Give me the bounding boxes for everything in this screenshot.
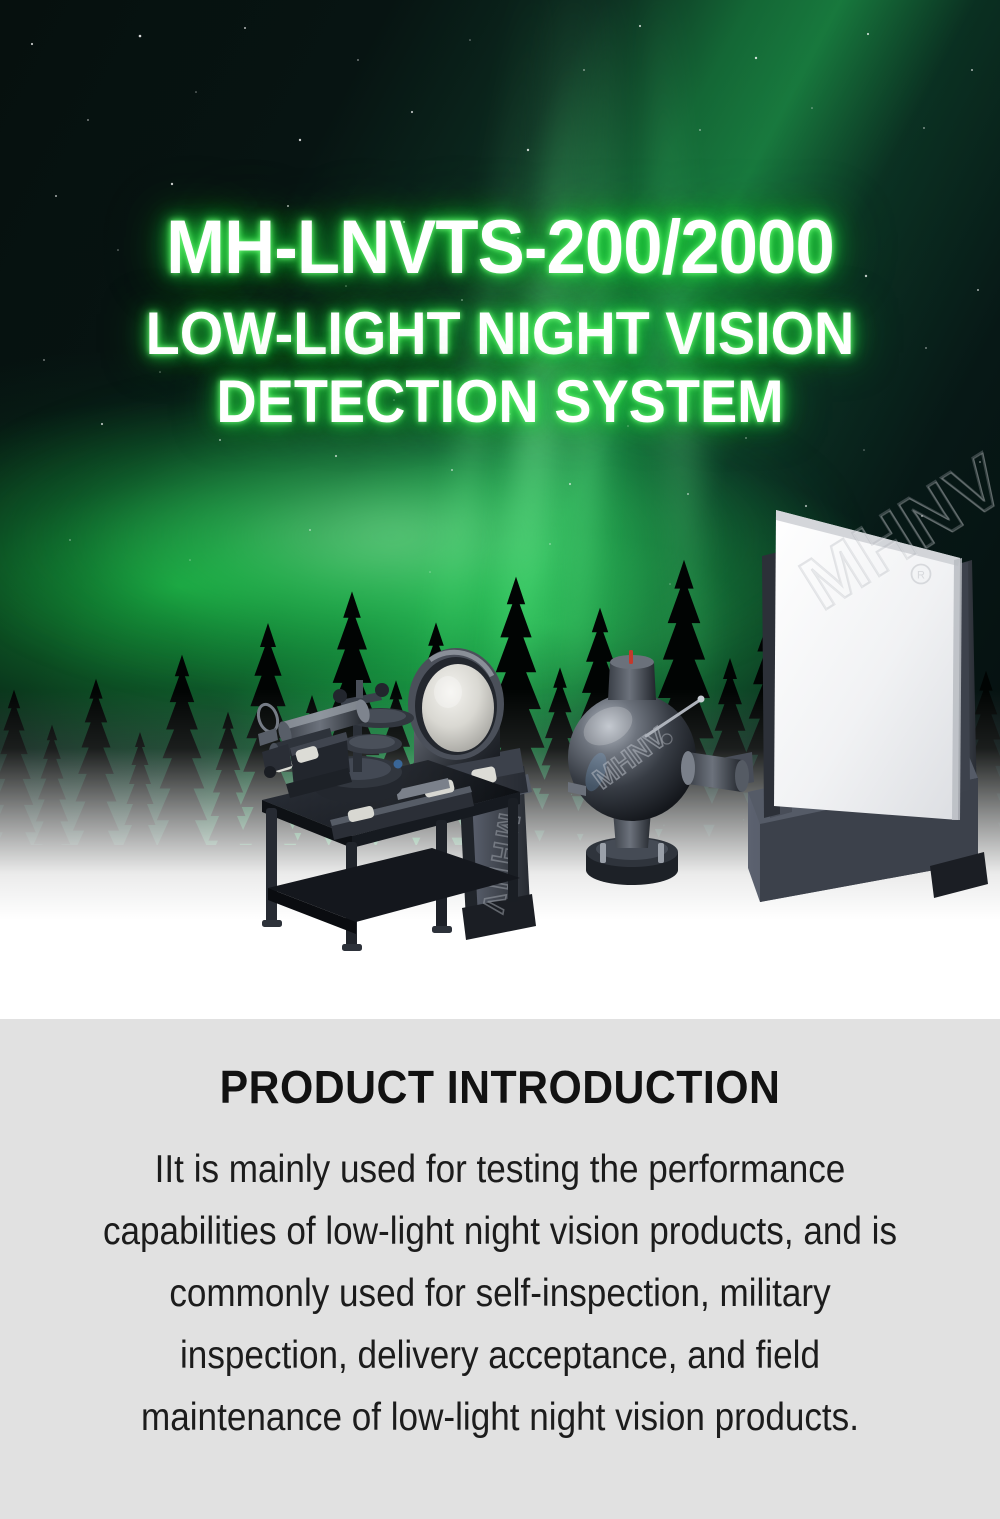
product-banner-page: MHNV MHNV R (0, 0, 1000, 1519)
night-sky-background (0, 0, 1000, 945)
product-model-title: MH-LNVTS-200/2000 (35, 206, 965, 290)
subtitle-line-1: LOW-LIGHT NIGHT VISION (146, 300, 855, 367)
hero-text-block: MH-LNVTS-200/2000 LOW-LIGHT NIGHT VISION… (0, 206, 1000, 436)
intro-body-text: IIt is mainly used for testing the perfo… (95, 1139, 905, 1449)
hero-section: MHNV MHNV R (0, 0, 1000, 1019)
intro-body-line: maintenance of low-light night vision pr… (95, 1387, 905, 1449)
product-subtitle: LOW-LIGHT NIGHT VISION DETECTION SYSTEM (35, 300, 965, 436)
intro-body-line: capabilities of low-light night vision p… (95, 1201, 905, 1263)
intro-body-line: commonly used for self-inspection, milit… (95, 1263, 905, 1325)
subtitle-line-2: DETECTION SYSTEM (35, 368, 965, 436)
product-introduction-section: PRODUCT INTRODUCTION IIt is mainly used … (0, 1019, 1000, 1519)
intro-heading: PRODUCT INTRODUCTION (35, 1061, 965, 1113)
intro-body-line: inspection, delivery acceptance, and fie… (95, 1325, 905, 1387)
intro-body-line: IIt is mainly used for testing the perfo… (95, 1139, 905, 1201)
